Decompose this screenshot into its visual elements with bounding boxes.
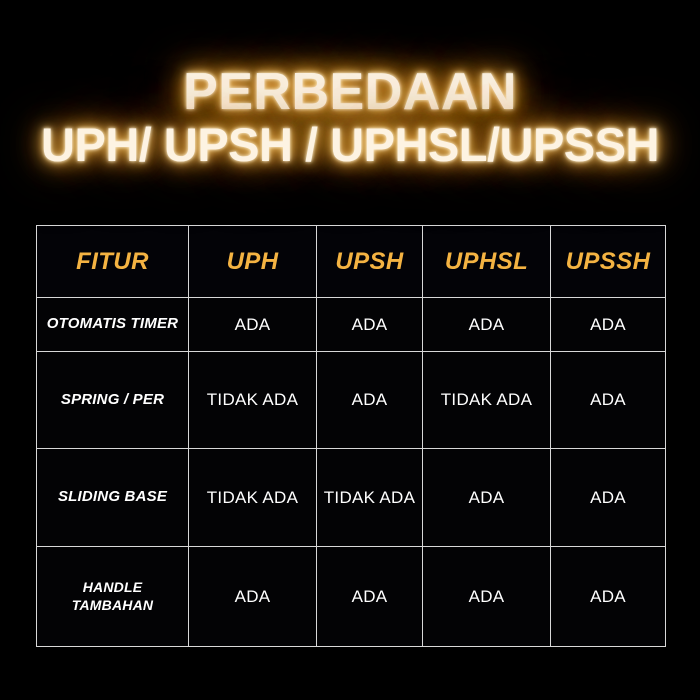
cell-spring-per-upsh: ADA <box>317 352 423 449</box>
cell-sliding-base-upsh: TIDAK ADA <box>317 449 423 547</box>
row-label-spring-per: SPRING / PER <box>37 352 189 449</box>
page-title: PERBEDAAN UPH/ UPSH / UPHSL/UPSSH <box>0 66 700 169</box>
cell-sliding-base-uph: TIDAK ADA <box>189 449 317 547</box>
cell-handle-tambahan-uphsl: ADA <box>423 547 551 647</box>
title-line-primary: PERBEDAAN <box>0 66 700 119</box>
cell-spring-per-uph: TIDAK ADA <box>189 352 317 449</box>
cell-spring-per-upssh: ADA <box>551 352 666 449</box>
cell-handle-tambahan-uph: ADA <box>189 547 317 647</box>
cell-otomatis-timer-uphsl: ADA <box>423 298 551 352</box>
comparison-table-container: FITUR UPH UPSH UPHSL UPSSH OTOMATIS TIME… <box>36 225 665 621</box>
table-row: SLIDING BASE TIDAK ADA TIDAK ADA ADA ADA <box>37 449 666 547</box>
cell-spring-per-uphsl: TIDAK ADA <box>423 352 551 449</box>
row-label-handle-tambahan-line2: TAMBAHAN <box>72 597 153 613</box>
column-header-uph: UPH <box>189 226 317 298</box>
row-label-sliding-base: SLIDING BASE <box>37 449 189 547</box>
cell-otomatis-timer-upsh: ADA <box>317 298 423 352</box>
cell-handle-tambahan-upsh: ADA <box>317 547 423 647</box>
table-body: OTOMATIS TIMER ADA ADA ADA ADA SPRING / … <box>37 298 666 647</box>
row-label-handle-tambahan-line1: HANDLE <box>83 579 143 595</box>
row-label-otomatis-timer: OTOMATIS TIMER <box>37 298 189 352</box>
column-header-upsh: UPSH <box>317 226 423 298</box>
comparison-table: FITUR UPH UPSH UPHSL UPSSH OTOMATIS TIME… <box>36 225 666 647</box>
cell-handle-tambahan-upssh: ADA <box>551 547 666 647</box>
column-header-uphsl: UPHSL <box>423 226 551 298</box>
row-label-handle-tambahan: HANDLE TAMBAHAN <box>37 547 189 647</box>
table-header-row: FITUR UPH UPSH UPHSL UPSSH <box>37 226 666 298</box>
page-root: PERBEDAAN UPH/ UPSH / UPHSL/UPSSH FITUR … <box>0 0 700 700</box>
table-row: SPRING / PER TIDAK ADA ADA TIDAK ADA ADA <box>37 352 666 449</box>
table-header: FITUR UPH UPSH UPHSL UPSSH <box>37 226 666 298</box>
cell-otomatis-timer-upssh: ADA <box>551 298 666 352</box>
cell-otomatis-timer-uph: ADA <box>189 298 317 352</box>
cell-sliding-base-uphsl: ADA <box>423 449 551 547</box>
title-line-secondary: UPH/ UPSH / UPHSL/UPSSH <box>0 121 700 169</box>
column-header-fitur: FITUR <box>37 226 189 298</box>
cell-sliding-base-upssh: ADA <box>551 449 666 547</box>
column-header-upssh: UPSSH <box>551 226 666 298</box>
table-row: HANDLE TAMBAHAN ADA ADA ADA ADA <box>37 547 666 647</box>
table-row: OTOMATIS TIMER ADA ADA ADA ADA <box>37 298 666 352</box>
